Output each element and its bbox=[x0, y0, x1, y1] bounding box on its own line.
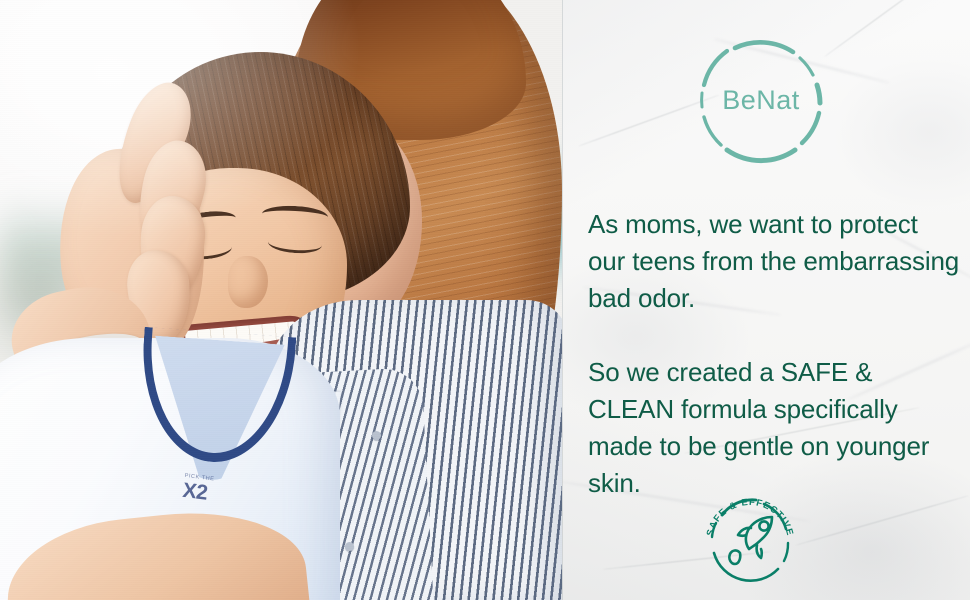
product-banner: PICK THE X2 bbox=[0, 0, 970, 600]
badge-arc-text: SAFE & EFFECTIVE bbox=[704, 496, 797, 537]
panel-divider bbox=[562, 0, 563, 600]
marketing-copy: As moms, we want to protect our teens fr… bbox=[588, 206, 960, 502]
badge-icon: SAFE & EFFECTIVE bbox=[700, 487, 800, 587]
benat-wordmark: BeNat bbox=[697, 85, 825, 116]
copy-paragraph-2: So we created a SAFE & CLEAN formula spe… bbox=[588, 354, 960, 502]
shirt-button bbox=[345, 542, 354, 551]
benat-logo[interactable]: BeNat bbox=[697, 37, 825, 165]
lifestyle-photo: PICK THE X2 bbox=[0, 0, 562, 600]
safe-effective-badge[interactable]: SAFE & EFFECTIVE bbox=[700, 487, 800, 587]
rocket-icon bbox=[729, 517, 772, 564]
shirt-button bbox=[372, 431, 381, 440]
photo-stage: PICK THE X2 bbox=[0, 0, 562, 600]
copy-paragraph-1: As moms, we want to protect our teens fr… bbox=[588, 206, 960, 317]
message-panel: BeNat As moms, we want to protect our te… bbox=[562, 0, 970, 600]
